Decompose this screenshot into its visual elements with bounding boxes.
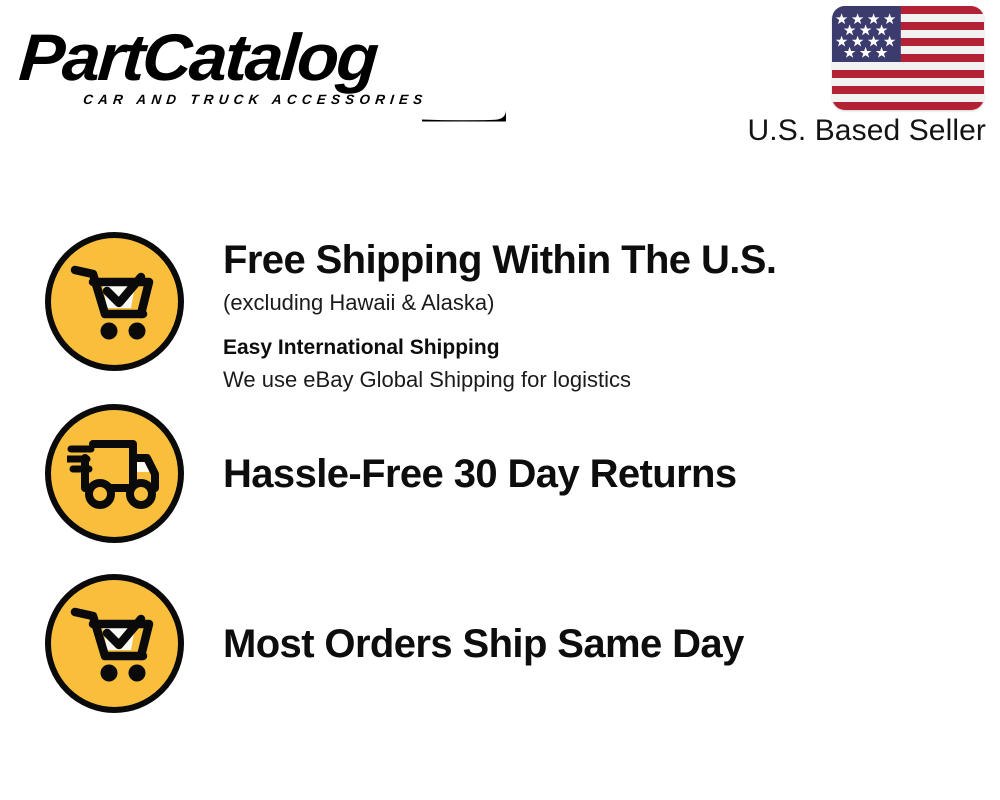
- feature-row-returns: Hassle-Free 30 Day Returns: [0, 404, 1000, 543]
- brand-logo: PartCatalog CAR AND TRUCK ACCESSORIES: [22, 22, 502, 122]
- feature-subtitle: (excluding Hawaii & Alaska): [223, 287, 1000, 319]
- brand-tagline: CAR AND TRUCK ACCESSORIES: [82, 92, 428, 107]
- feature-title: Most Orders Ship Same Day: [223, 620, 1000, 668]
- feature-text-block: Most Orders Ship Same Day: [223, 574, 1000, 668]
- delivery-truck-icon: [45, 404, 184, 543]
- feature-title: Free Shipping Within The U.S.: [223, 236, 1000, 284]
- cart-check-icon: [45, 232, 184, 371]
- feature-subnote: We use eBay Global Shipping for logistic…: [223, 365, 1000, 395]
- feature-text-block: Free Shipping Within The U.S. (excluding…: [223, 232, 1000, 395]
- feature-row-same-day-ship: Most Orders Ship Same Day: [0, 574, 1000, 713]
- feature-subheading: Easy International Shipping: [223, 333, 1000, 363]
- us-flag-icon: [832, 6, 984, 110]
- cart-check-icon: [45, 574, 184, 713]
- feature-row-free-shipping: Free Shipping Within The U.S. (excluding…: [0, 232, 1000, 395]
- brand-name: PartCatalog: [17, 22, 521, 92]
- feature-title: Hassle-Free 30 Day Returns: [223, 450, 1000, 498]
- page-header: PartCatalog CAR AND TRUCK ACCESSORIES: [0, 0, 1000, 170]
- brand-underline-swoosh: [422, 108, 508, 122]
- us-based-seller-badge: U.S. Based Seller: [710, 6, 986, 148]
- us-based-seller-label: U.S. Based Seller: [710, 114, 986, 148]
- feature-text-block: Hassle-Free 30 Day Returns: [223, 404, 1000, 498]
